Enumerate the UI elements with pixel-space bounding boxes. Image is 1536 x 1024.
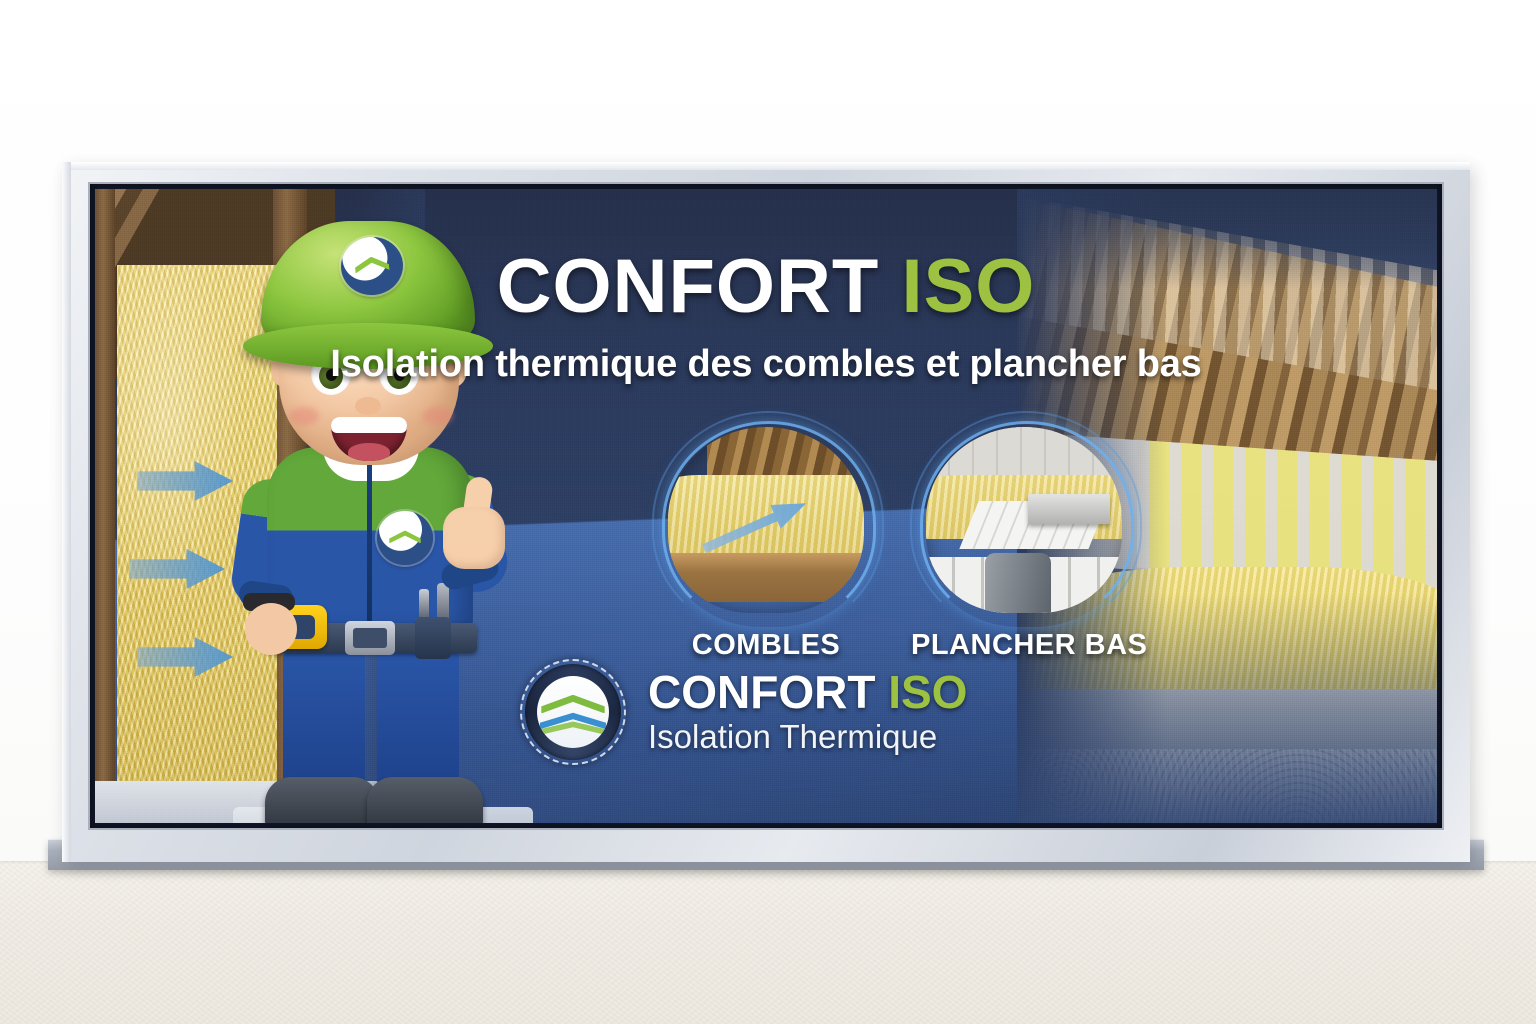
mascot-nose [355,397,381,415]
feature-plancher-bas[interactable]: PLANCHER BAS [911,427,1137,662]
mascot-left-leg [283,647,365,797]
confort-iso-roof-emblem-icon [520,659,626,765]
cutaway-ceiling [926,427,1122,487]
frame-top-highlight [62,162,1470,170]
mascot-right-hand [443,507,505,569]
cutaway-arrow-icon [699,491,812,560]
subtitle: Isolation thermique des combles et planc… [95,343,1437,386]
mascot-left-cheek [289,407,319,425]
brand-text-block: CONFORT ISO Isolation Thermique [648,668,967,756]
mascot-jacket-zipper [367,461,372,637]
mascot-left-boot [265,777,379,823]
wall-lower-textured [0,861,1536,1024]
mascot-chest-logo-badge-icon [377,511,433,565]
brand-tagline: Isolation Thermique [648,718,967,756]
scene-root: CONFORT ISO Isolation thermique des comb… [0,0,1536,1024]
cutaway-duct [985,553,1052,613]
attic-insulation-cutaway-icon [668,427,864,613]
page-title: CONFORT ISO [95,249,1437,325]
feature-combles[interactable]: COMBLES [653,427,879,662]
mascot-left-hand [245,603,297,655]
brand-name: CONFORT ISO [648,668,967,716]
headline-word-iso: ISO [901,244,1035,329]
feature-ring-combles [668,427,864,613]
feature-list: COMBLES PLANCHER BAS [635,427,1155,662]
mascot-teeth [331,417,407,433]
headline-word-confort: CONFORT [497,244,880,329]
brand-logo-lockup[interactable]: CONFORT ISO Isolation Thermique [520,659,967,765]
cutaway-floor-wool [926,475,1122,538]
feature-label-combles: COMBLES [653,629,879,662]
mascot-right-leg [377,647,459,797]
brand-name-iso: ISO [888,666,967,718]
emblem-inner-disc [537,676,609,748]
frame-left-highlight [62,162,71,862]
mascot-tongue [348,443,391,461]
feature-label-plancher-bas: PLANCHER BAS [911,629,1137,662]
cutaway-floor-tiles [959,501,1108,549]
emblem-chevron-green [541,695,604,714]
cutaway-block-wall [926,557,1122,613]
mascot-belt-buckle [345,621,395,655]
billboard-panel[interactable]: CONFORT ISO Isolation thermique des comb… [62,162,1470,862]
mascot-tool-pouch [415,617,451,659]
headline-block: CONFORT ISO Isolation thermique des comb… [95,249,1437,386]
brand-name-confort: CONFORT [648,666,875,718]
cutaway-floor-slab [1028,494,1110,524]
mascot-right-cheek [423,407,453,425]
cutaway-attic-joist [668,553,864,601]
mascot-right-boot [367,777,483,823]
feature-ring-plancher-bas [926,427,1122,613]
cutaway-roof-wood [707,427,864,516]
cutaway-attic-wool [668,475,864,579]
poster-canvas: CONFORT ISO Isolation thermique des comb… [95,189,1437,823]
floor-insulation-cutaway-icon [926,427,1122,613]
